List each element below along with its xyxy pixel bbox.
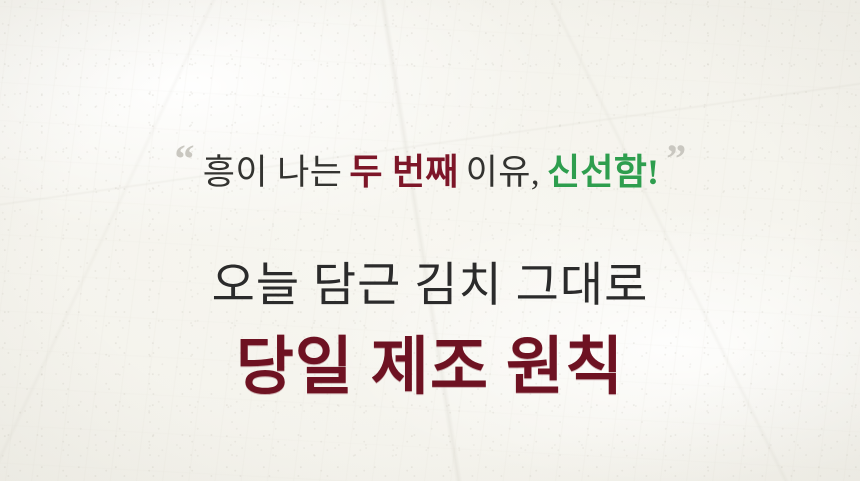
promo-banner: “흥이 나는두 번째이유,신선함!” 오늘 담근 김치 그대로 당일 제조 원칙 <box>0 0 860 481</box>
subtitle-quoted-line: “흥이 나는두 번째이유,신선함!” <box>0 139 860 190</box>
quotation-close-icon: ” <box>666 136 685 181</box>
subtitle-segment-accent-red: 두 번째 <box>349 152 458 192</box>
headline-line-emphasis: 당일 제조 원칙 <box>0 333 860 401</box>
banner-content: “흥이 나는두 번째이유,신선함!” 오늘 담근 김치 그대로 당일 제조 원칙 <box>0 0 860 481</box>
subtitle-segment-accent-green: 신선함! <box>547 152 659 192</box>
subtitle-segment-plain-2: 이유, <box>466 153 540 192</box>
subtitle-segment-plain-1: 흥이 나는 <box>203 153 343 192</box>
headline-line-primary: 오늘 담근 김치 그대로 <box>0 261 860 312</box>
quotation-open-icon: “ <box>175 136 194 181</box>
